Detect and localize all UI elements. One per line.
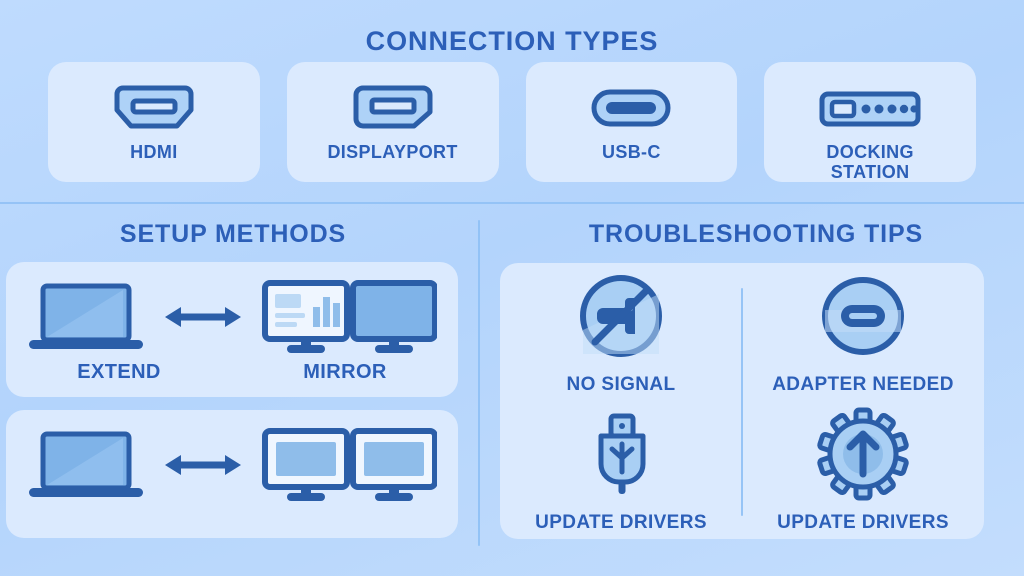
connection-types-row: HDMI DisplayPort USB-C bbox=[48, 62, 976, 182]
gear-update-icon bbox=[815, 406, 911, 502]
setup-methods-title: Setup Methods bbox=[0, 220, 466, 249]
troubleshooting-tips-title: Troubleshooting Tips bbox=[500, 220, 1012, 249]
connection-card-hdmi[interactable]: HDMI bbox=[48, 62, 260, 182]
displayport-port-icon bbox=[348, 82, 438, 134]
connection-card-displayport[interactable]: DisplayPort bbox=[287, 62, 499, 182]
laptop-icon bbox=[27, 428, 145, 502]
connection-card-usbc[interactable]: USB-C bbox=[526, 62, 738, 182]
setup-method-row-second[interactable] bbox=[6, 410, 458, 538]
tip-label-no-signal: No Signal bbox=[567, 374, 676, 395]
tip-no-signal[interactable]: No Signal bbox=[500, 263, 742, 401]
adapter-needed-icon bbox=[815, 268, 911, 364]
connection-card-docking-station[interactable]: Docking Station bbox=[764, 62, 976, 182]
usb-plug-icon bbox=[573, 406, 669, 502]
connection-label-usbc: USB-C bbox=[602, 142, 661, 162]
hdmi-port-icon bbox=[109, 82, 199, 134]
usb-c-port-icon bbox=[586, 82, 676, 134]
setup-visual-2 bbox=[6, 428, 458, 502]
tip-adapter-needed[interactable]: Adapter Needed bbox=[742, 263, 984, 401]
section-divider-horizontal bbox=[0, 202, 1024, 204]
tip-update-drivers-usb[interactable]: Update Drivers bbox=[500, 401, 742, 539]
tip-label-adapter-needed: Adapter Needed bbox=[772, 374, 954, 395]
connection-label-docking-station: Docking Station bbox=[826, 142, 914, 182]
double-arrow-icon bbox=[163, 445, 243, 485]
tip-update-drivers-gear[interactable]: Update Drivers bbox=[742, 401, 984, 539]
connection-label-hdmi: HDMI bbox=[130, 142, 177, 162]
setup-label-mirror: Mirror bbox=[232, 361, 458, 383]
troubleshooting-inner-divider bbox=[741, 288, 743, 516]
section-divider-vertical bbox=[478, 220, 480, 546]
setup-visual-1 bbox=[6, 280, 458, 354]
infographic-canvas: Connection Types HDMI DisplayPort bbox=[0, 0, 1024, 576]
connection-label-displayport: DisplayPort bbox=[327, 142, 457, 162]
laptop-icon bbox=[27, 280, 145, 354]
docking-station-icon bbox=[816, 82, 924, 134]
connection-types-title: Connection Types bbox=[0, 26, 1024, 57]
double-arrow-icon bbox=[163, 297, 243, 337]
setup-method-row-extend-mirror[interactable]: Extend Mirror bbox=[6, 262, 458, 397]
setup-labels-1: Extend Mirror bbox=[6, 361, 458, 383]
tip-label-update-drivers-usb: Update Drivers bbox=[535, 512, 707, 533]
dual-monitor-dashboard-icon bbox=[261, 279, 437, 355]
setup-label-extend: Extend bbox=[6, 361, 232, 383]
dual-monitor-icon bbox=[261, 427, 437, 503]
docking-label-line-1: Docking bbox=[826, 142, 914, 162]
docking-label-line-2: Station bbox=[831, 162, 910, 182]
tip-label-update-drivers-gear: Update Drivers bbox=[777, 512, 949, 533]
no-signal-icon bbox=[573, 268, 669, 364]
